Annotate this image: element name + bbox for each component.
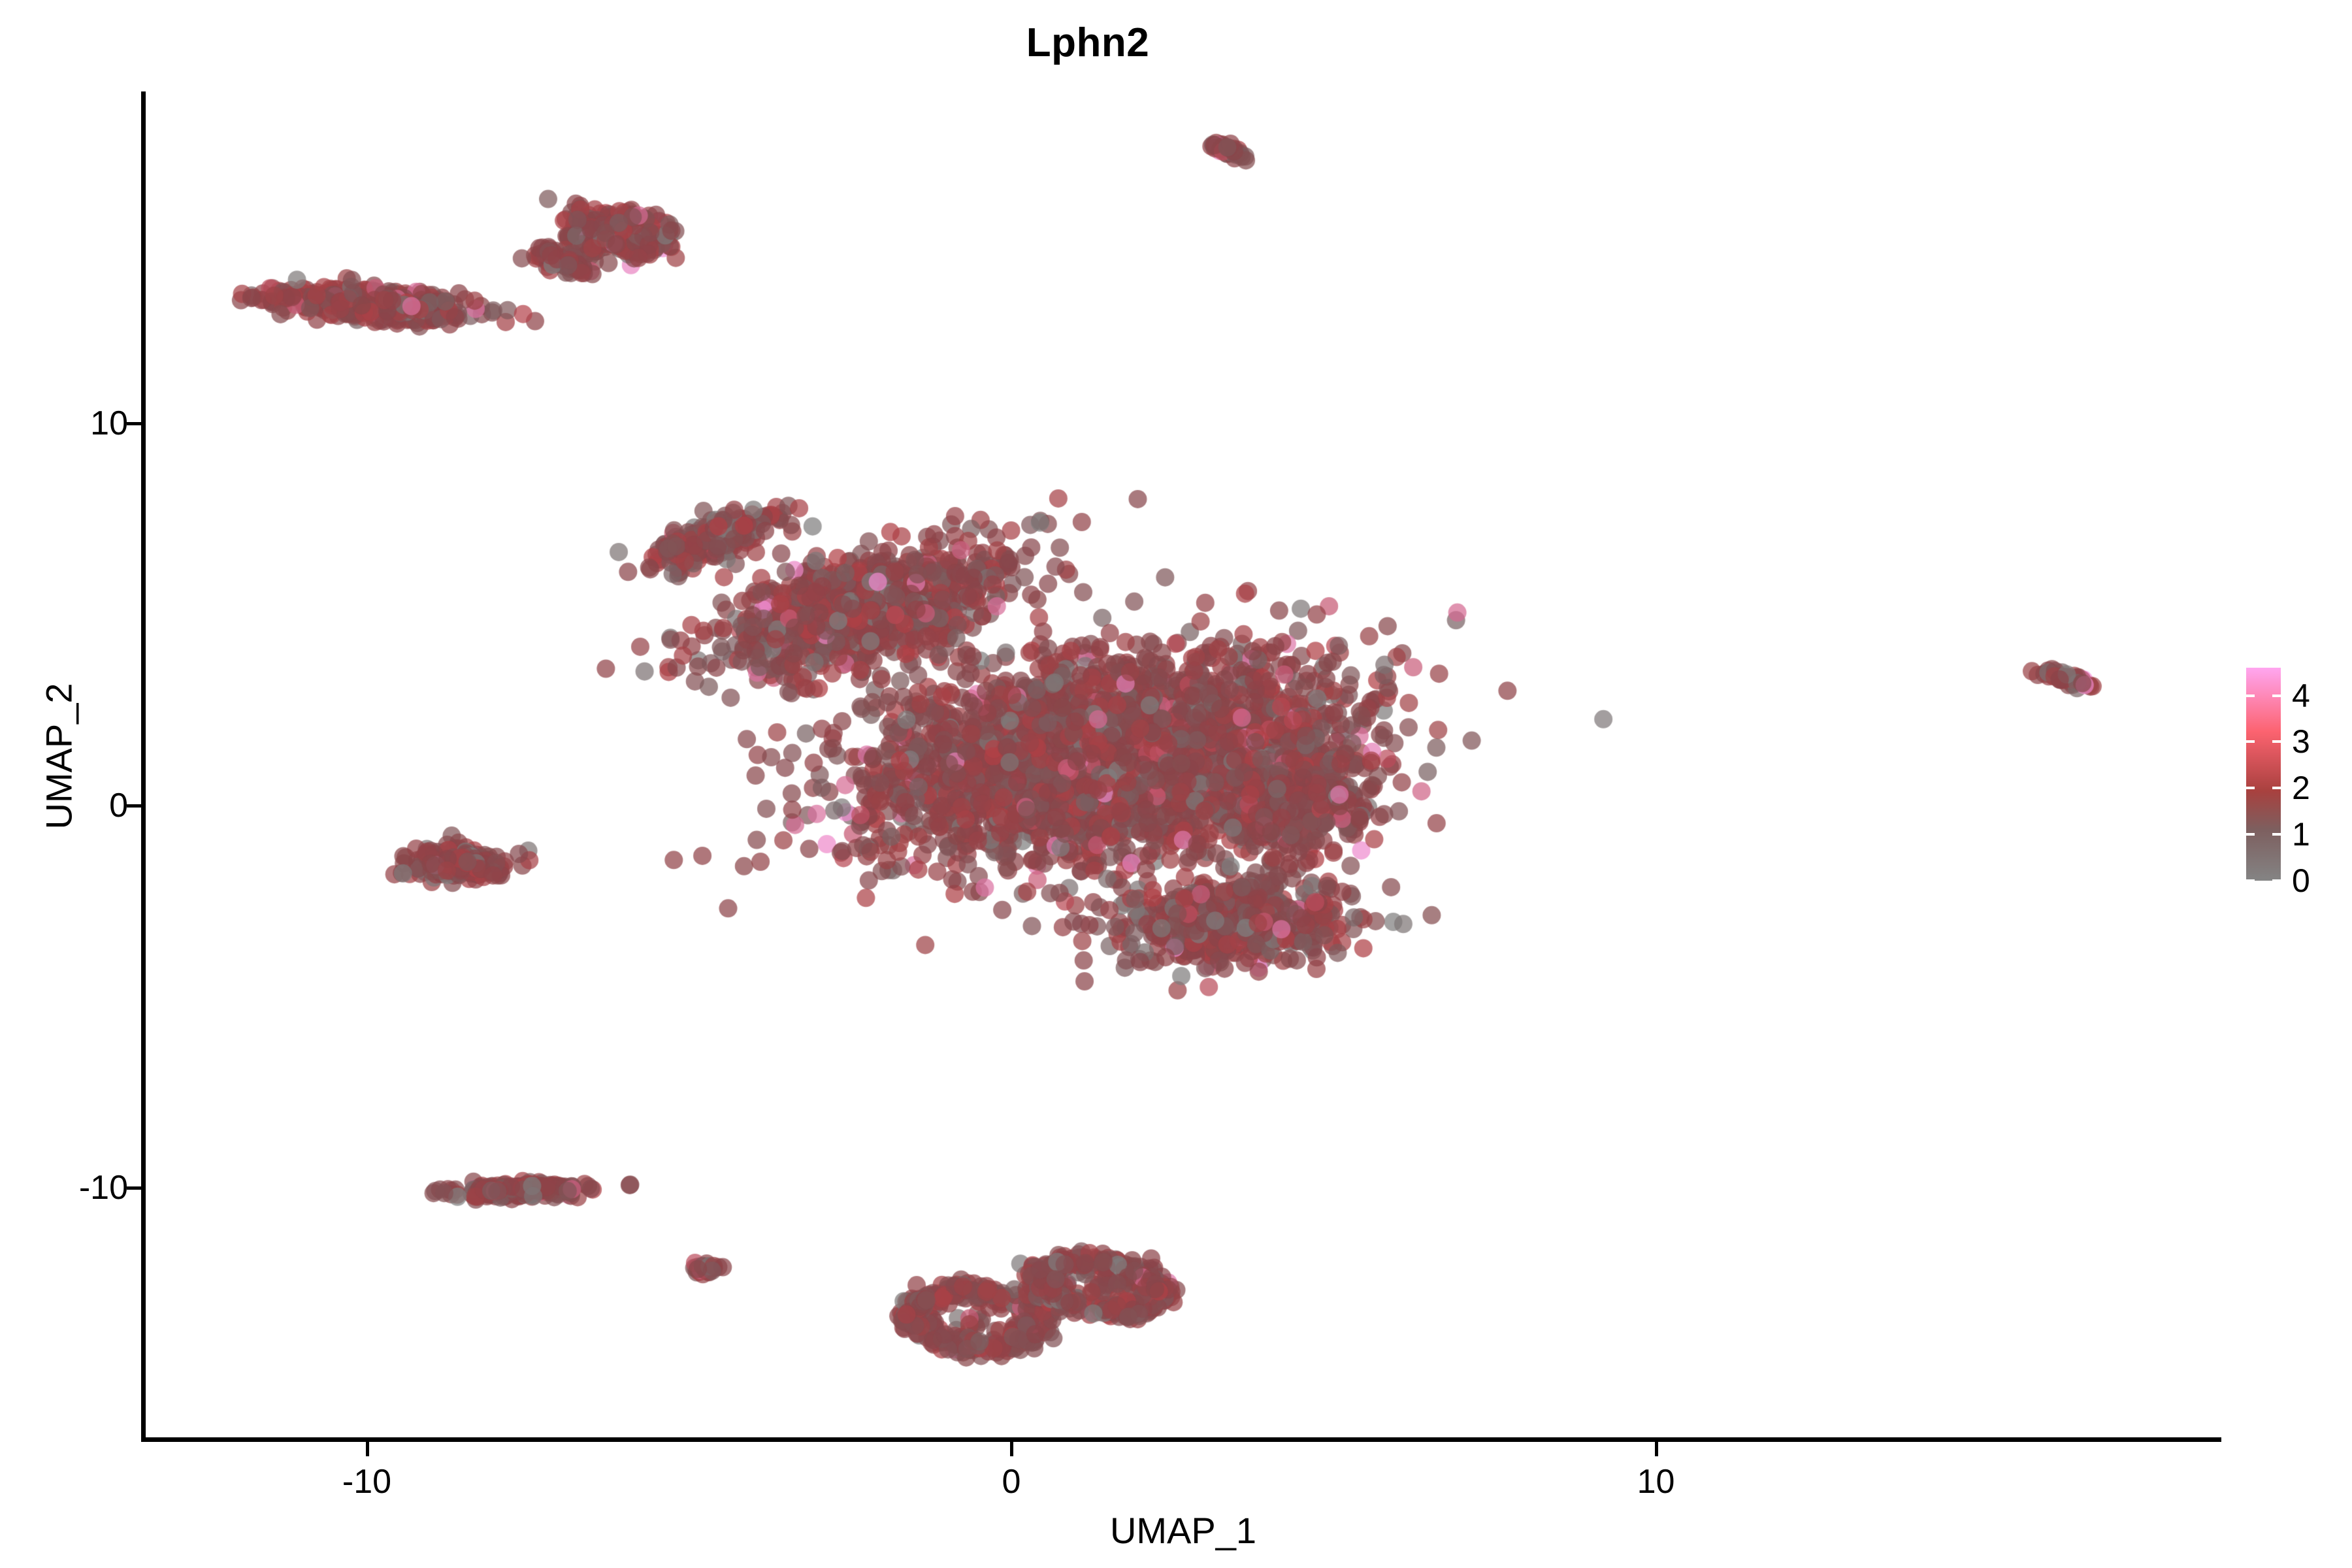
color-legend: 43210: [2246, 668, 2344, 887]
legend-label: 1: [2292, 815, 2310, 853]
legend-label: 0: [2292, 862, 2310, 900]
y-axis-line: [141, 91, 146, 1441]
y-tick-label: -10: [79, 1168, 128, 1207]
legend-label: 2: [2292, 769, 2310, 807]
x-tick-mark: [1010, 1442, 1013, 1456]
x-axis-line: [141, 1437, 2221, 1442]
y-tick-mark: [127, 422, 141, 425]
x-tick-mark: [1655, 1442, 1658, 1456]
legend-colorbar: [2246, 668, 2281, 881]
feature-plot-root: Lphn2 100-10-10010 UMAP_1 UMAP_2 43210: [0, 0, 2352, 1568]
x-tick-label: 0: [1002, 1462, 1021, 1501]
x-tick-label: 10: [1637, 1462, 1675, 1501]
x-tick-mark: [366, 1442, 369, 1456]
y-tick-mark: [127, 804, 141, 808]
y-axis-title: UMAP_2: [38, 71, 80, 1443]
plot-panel: [145, 91, 2221, 1439]
x-axis-title: UMAP_1: [145, 1509, 2221, 1552]
y-tick-label: 10: [90, 404, 128, 443]
y-tick-label: 0: [109, 786, 128, 825]
legend-label: 3: [2292, 723, 2310, 760]
y-tick-mark: [127, 1186, 141, 1190]
x-tick-label: -10: [342, 1462, 391, 1501]
scatter-plot-canvas: [145, 91, 2221, 1439]
legend-label: 4: [2292, 677, 2310, 715]
page-title: Lphn2: [0, 20, 2176, 66]
